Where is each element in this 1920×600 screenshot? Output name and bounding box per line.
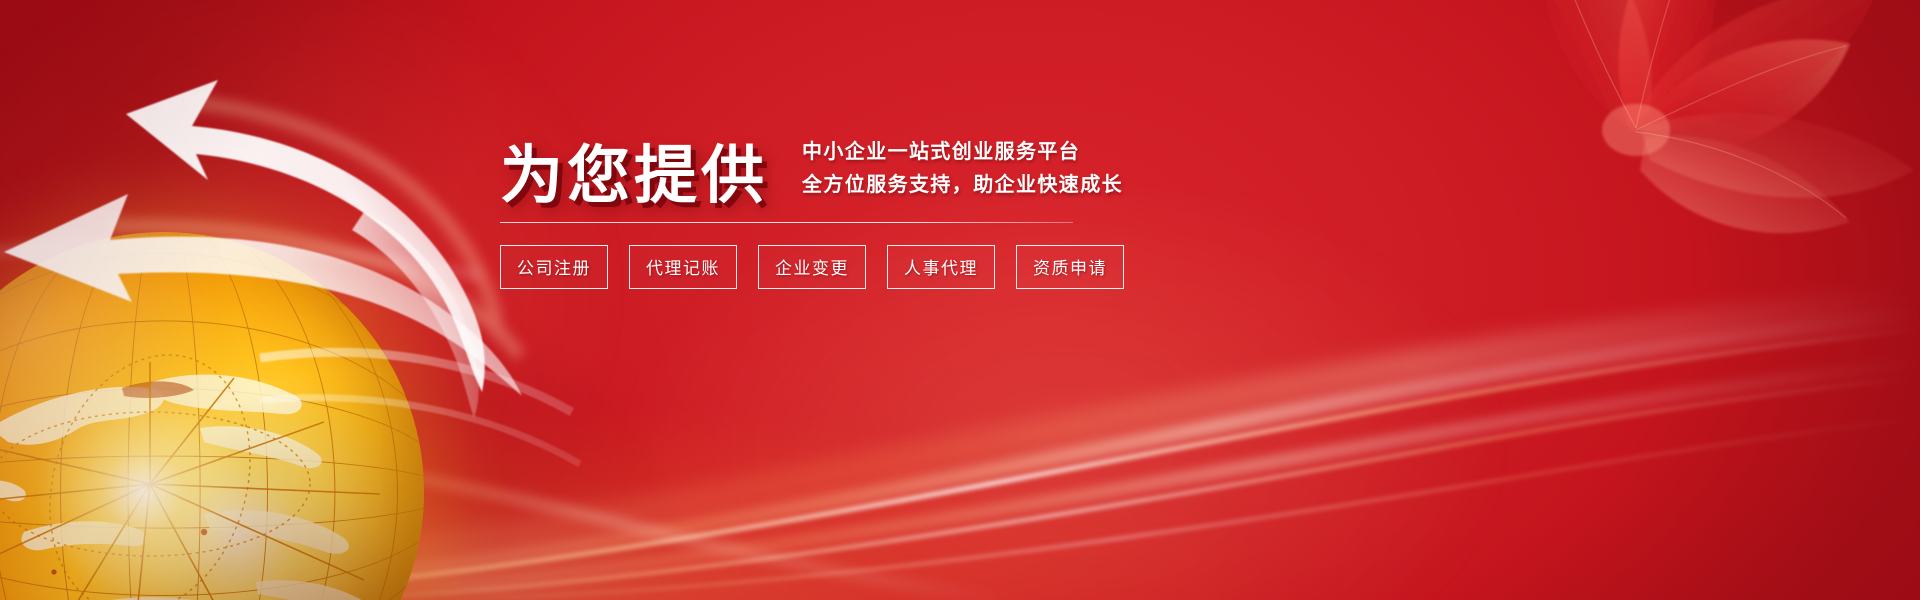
service-button-enterprise-change[interactable]: 企业变更 bbox=[758, 245, 866, 289]
divider bbox=[500, 222, 1073, 223]
promo-banner: 为您提供 中小企业一站式创业服务平台 全方位服务支持，助企业快速成长 公司注册 … bbox=[0, 0, 1920, 600]
service-button-company-registration[interactable]: 公司注册 bbox=[500, 245, 608, 289]
headline-row: 为您提供 中小企业一站式创业服务平台 全方位服务支持，助企业快速成长 bbox=[500, 136, 1100, 210]
service-button-hr-agency[interactable]: 人事代理 bbox=[887, 245, 995, 289]
subtitle-line-1: 中小企业一站式创业服务平台 bbox=[802, 136, 1123, 169]
page-title: 为您提供 bbox=[500, 144, 768, 210]
service-button-agency-bookkeeping[interactable]: 代理记账 bbox=[629, 245, 737, 289]
banner-content: 为您提供 中小企业一站式创业服务平台 全方位服务支持，助企业快速成长 公司注册 … bbox=[500, 136, 1100, 289]
service-button-row: 公司注册 代理记账 企业变更 人事代理 资质申请 bbox=[500, 245, 1100, 289]
subtitle-line-2: 全方位服务支持，助企业快速成长 bbox=[802, 169, 1123, 202]
vignette-overlay bbox=[0, 0, 1920, 600]
subtitle-block: 中小企业一站式创业服务平台 全方位服务支持，助企业快速成长 bbox=[802, 136, 1123, 210]
service-button-qualification-application[interactable]: 资质申请 bbox=[1016, 245, 1124, 289]
